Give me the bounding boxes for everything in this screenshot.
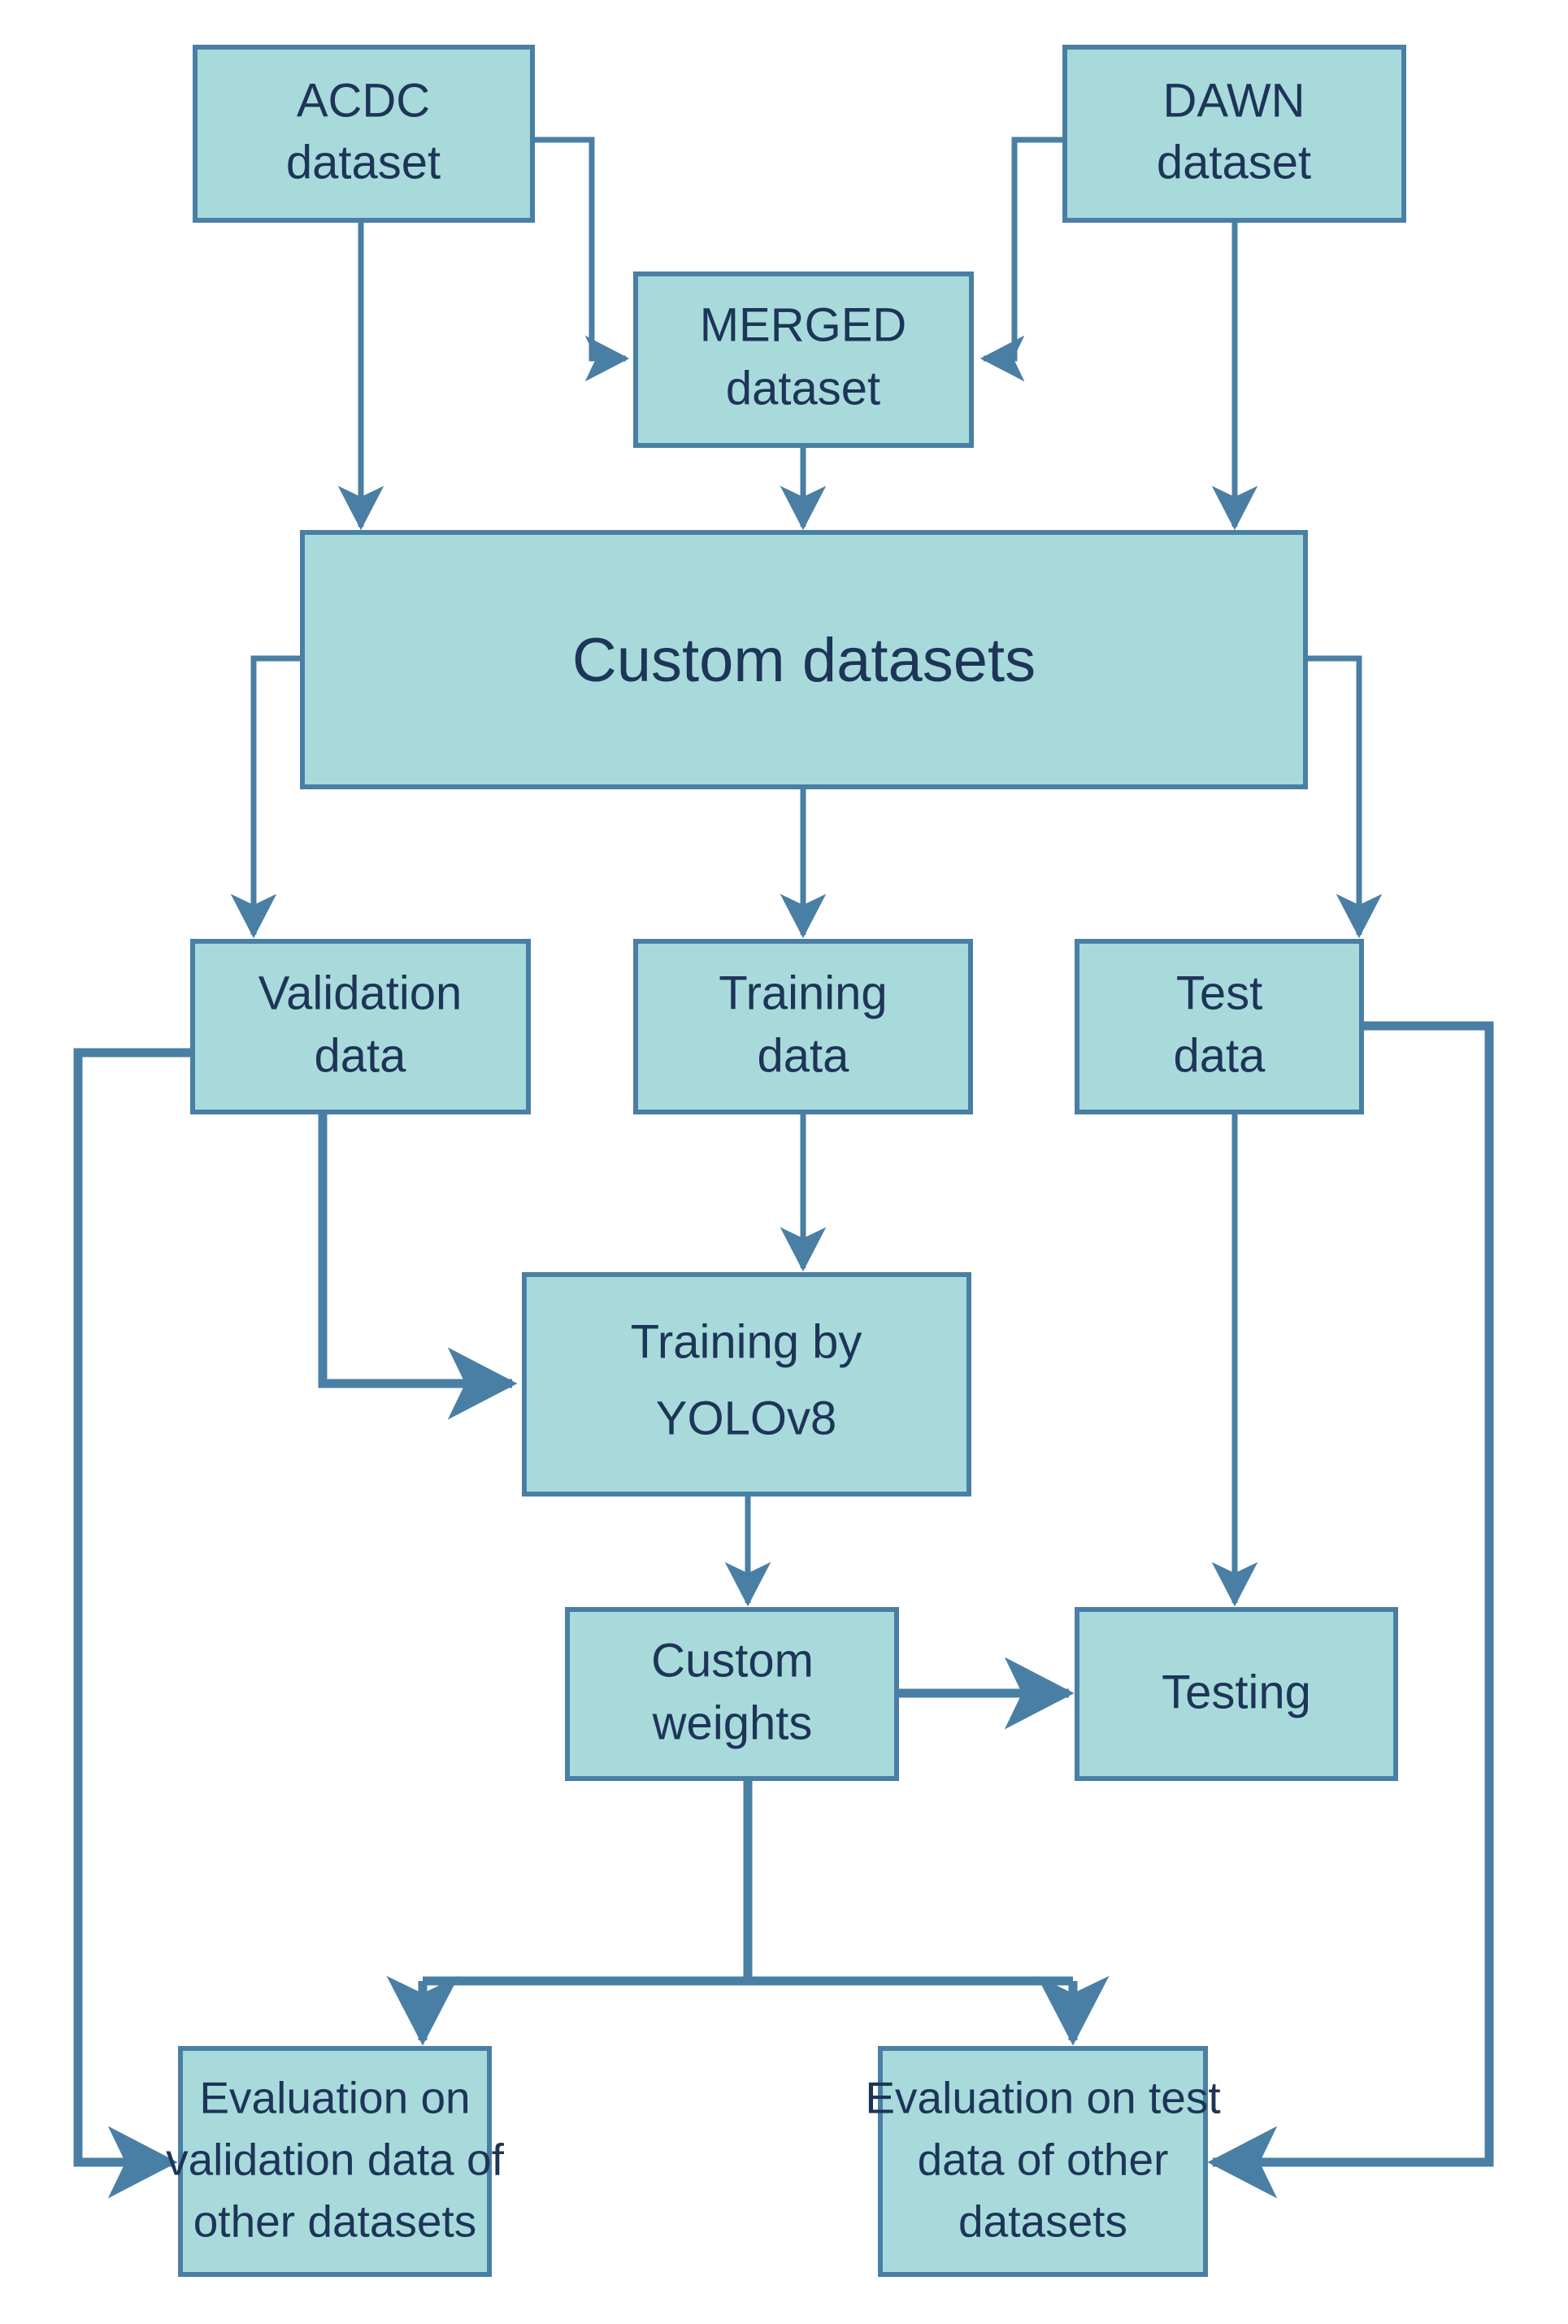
node-validation-data-line1: Validation [258,967,462,1019]
node-eval-test-line2: data of other [918,2135,1169,2185]
edge-validation-to-evalval [78,1053,190,2162]
node-dawn-dataset[interactable]: DAWN dataset [1065,47,1404,220]
node-eval-validation-line2: validation data of [166,2135,505,2185]
node-acdc-dataset-box[interactable] [195,47,532,220]
node-custom-weights-line1: Custom [651,1634,814,1687]
node-testing[interactable]: Testing [1077,1609,1396,1779]
node-eval-test-line1: Evaluation on test [865,2073,1220,2123]
node-eval-test[interactable]: Evaluation on test data of other dataset… [865,2048,1220,2274]
node-test-data[interactable]: Test data [1077,941,1362,1112]
node-validation-data[interactable]: Validation data [193,941,528,1112]
node-training-by-yolov8-line2: YOLOv8 [656,1392,836,1444]
node-training-by-yolov8[interactable]: Training by YOLOv8 [524,1275,969,1494]
edge-acdc-to-merged [534,140,626,358]
node-merged-dataset-line2: dataset [726,362,880,415]
edge-validation-to-trainyolo [323,1112,512,1384]
node-training-data[interactable]: Training data [636,941,971,1112]
flowchart-svg: ACDC dataset DAWN dataset MERGED dataset… [0,0,1568,2324]
edge-test-to-evaltest [1213,1026,1489,2162]
node-training-by-yolov8-line1: Training by [631,1315,862,1368]
node-validation-data-line2: data [315,1029,407,1082]
node-custom-datasets-label: Custom datasets [572,626,1036,695]
node-training-by-yolov8-box[interactable] [524,1275,969,1494]
node-dawn-dataset-line2: dataset [1157,136,1311,189]
node-eval-validation-line1: Evaluation on [199,2073,470,2123]
node-dawn-dataset-box[interactable] [1065,47,1404,220]
node-custom-weights-line2: weights [652,1696,813,1749]
node-custom-weights[interactable]: Custom weights [567,1609,897,1779]
node-testing-label: Testing [1162,1666,1311,1718]
node-eval-test-line3: datasets [958,2196,1127,2247]
node-custom-datasets[interactable]: Custom datasets [302,532,1305,787]
node-acdc-dataset-line2: dataset [286,136,441,189]
node-acdc-dataset[interactable]: ACDC dataset [195,47,532,220]
node-test-data-line2: data [1174,1029,1266,1082]
edge-custom-to-test [1305,658,1359,935]
node-test-data-line1: Test [1176,967,1262,1019]
node-training-data-line2: data [758,1029,850,1082]
node-acdc-dataset-line1: ACDC [297,74,430,127]
node-merged-dataset[interactable]: MERGED dataset [636,274,971,445]
edge-dawn-to-merged [984,140,1063,358]
node-eval-validation[interactable]: Evaluation on validation data of other d… [166,2048,505,2274]
node-dawn-dataset-line1: DAWN [1162,74,1305,127]
node-eval-validation-line3: other datasets [193,2196,477,2247]
node-training-data-line1: Training [719,967,887,1019]
node-merged-dataset-line1: MERGED [700,298,907,351]
edge-custom-to-validation [254,658,300,935]
flowchart-canvas: ACDC dataset DAWN dataset MERGED dataset… [0,0,1568,2324]
